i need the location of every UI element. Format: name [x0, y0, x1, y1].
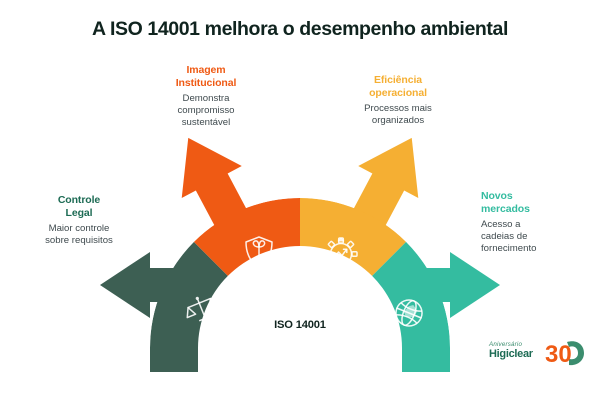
gear-chart-icon — [325, 238, 357, 270]
callout-novos-mercados: Novos mercados Acesso a cadeias de forne… — [481, 190, 591, 256]
infographic-canvas: A ISO 14001 melhora o desempenho ambient… — [0, 0, 600, 400]
segment-controle-legal[interactable] — [100, 242, 300, 372]
callout-heading: Eficiência operacional — [337, 74, 459, 99]
logo-aniversario-text: Aniversário — [489, 341, 533, 348]
callout-body: Demonstra compromisso sustentável — [148, 93, 264, 130]
callout-heading: Controle Legal — [18, 194, 140, 219]
logo-brand-text: Higiclear — [489, 348, 533, 360]
center-label: ISO 14001 — [230, 319, 370, 331]
callout-controle-legal: Controle Legal Maior controle sobre requ… — [18, 194, 140, 247]
logo-wordmark: Aniversário Higiclear — [489, 341, 533, 360]
higiclear-logo: Aniversário Higiclear 30 — [489, 339, 585, 373]
callout-heading: Novos mercados — [481, 190, 591, 215]
logo-years-text: 30 — [545, 341, 572, 367]
callout-heading: Imagem Institucional — [148, 64, 264, 89]
callout-body: Maior controle sobre requisitos — [18, 223, 140, 247]
callout-eficiencia-operacional: Eficiência operacional Processos mais or… — [337, 74, 459, 127]
callout-imagem-institucional: Imagem Institucional Demonstra compromis… — [148, 64, 264, 130]
callout-body: Acesso a cadeias de fornecimento — [481, 219, 591, 256]
logo-30-mark: 30 — [545, 339, 585, 367]
callout-body: Processos mais organizados — [337, 103, 459, 127]
